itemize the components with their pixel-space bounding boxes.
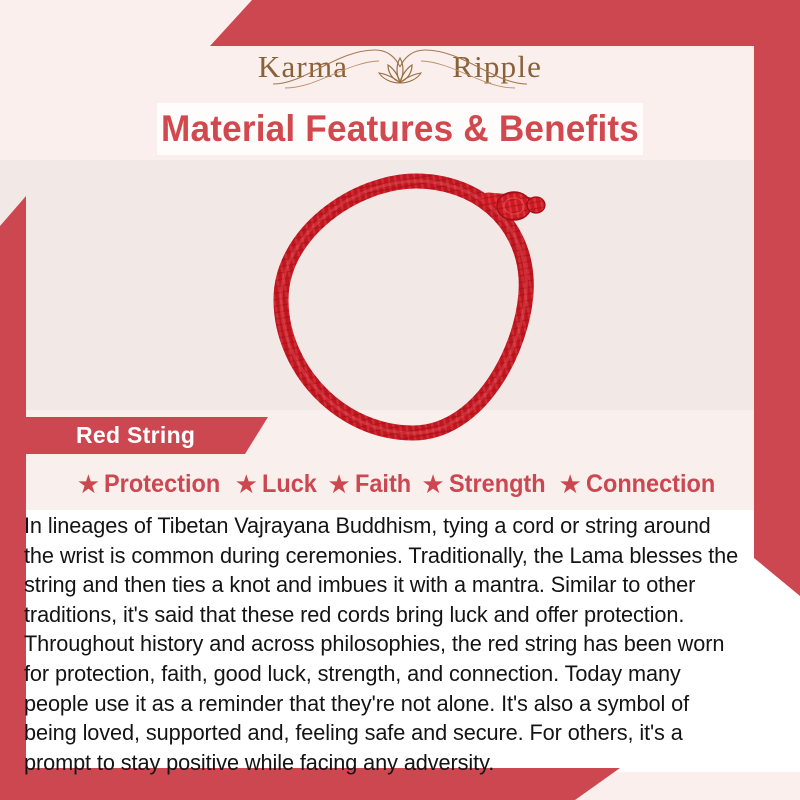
benefit-label-protection: Protection [104, 470, 220, 499]
benefit-item-connection: ★ Connection [558, 470, 723, 499]
benefit-label-strength: Strength [449, 470, 546, 499]
product-photo-red-string-bracelet [270, 165, 562, 450]
benefit-item-protection: ★ Protection [77, 470, 228, 499]
star-icon: ★ [77, 471, 100, 497]
benefits-list: ★ Protection ★ Luck ★ Faith ★ Strength ★… [14, 464, 786, 504]
page-title: Material Features & Benefits [169, 103, 631, 155]
brand-logo-inner: Karma Ripple [250, 38, 550, 96]
lotus-icon [377, 55, 423, 85]
benefit-label-faith: Faith [355, 470, 411, 499]
benefit-item-strength: ★ Strength [421, 470, 551, 499]
benefit-label-luck: Luck [262, 470, 317, 499]
brand-logo: Karma Ripple [0, 38, 800, 96]
benefit-label-connection: Connection [586, 470, 715, 499]
star-icon: ★ [235, 471, 258, 497]
brand-name-left: Karma [258, 49, 348, 85]
star-icon: ★ [421, 471, 444, 497]
brand-name-right: Ripple [452, 49, 542, 85]
benefit-item-luck: ★ Luck [235, 470, 321, 499]
star-icon: ★ [558, 471, 581, 497]
product-label-banner: Red String [18, 417, 268, 454]
description-text: In lineages of Tibetan Vajrayana Buddhis… [24, 511, 746, 777]
product-label-text: Red String [76, 422, 195, 449]
benefit-item-faith: ★ Faith [327, 470, 414, 499]
infographic-page: Karma Ripple Material Features & Benefit… [0, 0, 800, 800]
star-icon: ★ [327, 471, 350, 497]
